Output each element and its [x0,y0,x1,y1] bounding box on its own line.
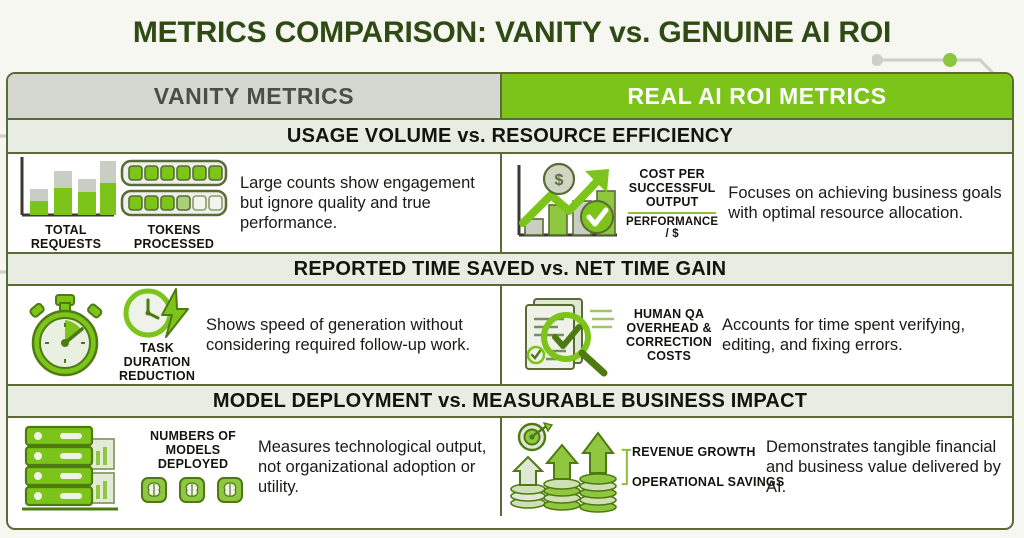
description-vanity-time: Shows speed of generation without consid… [196,315,494,355]
section-band-time-saved: REPORTED TIME SAVED vs. NET TIME GAIN [8,252,1012,286]
metric-label-total-requests: TOTAL REQUESTS [14,223,118,251]
description-vanity-usage: Large counts show engagement but ignore … [230,173,494,233]
server-stack-icon [14,421,138,513]
cell-real-impact: REVENUE GROWTH OPERATIONA [500,418,1012,516]
cell-real-usage: $ COST PER SUCCESSFUL OUTPUT PERFORMANCE… [500,154,1012,252]
infographic-root: METRICS COMPARISON: VANITY vs. GENUINE A… [0,0,1024,538]
description-real-usage: Focuses on achieving business goals with… [718,183,1006,223]
section-band-usage-volume: USAGE VOLUME vs. RESOURCE EFFICIENCY [8,120,1012,154]
stopwatch-icon [14,291,118,379]
metric-label-tokens-processed: TOKENS PROCESSED [118,223,230,251]
bracket-connector-icon [620,437,632,497]
metric-label-human-qa-overhead: HUMAN QA OVERHEAD & CORRECTION COSTS [626,307,712,363]
cell-vanity-usage: TOTAL REQUESTS [8,154,500,252]
svg-text:$: $ [555,172,564,189]
growth-arrow-dollar-check-icon: $ [508,161,626,245]
comparison-table: VANITY METRICS REAL AI ROI METRICS USAGE… [6,72,1014,530]
page-title: METRICS COMPARISON: VANITY vs. GENUINE A… [0,16,1024,50]
description-real-time: Accounts for time spent verifying, editi… [712,315,1006,355]
metric-label-numbers-of-models-deployed: NUMBERS OF MODELS DEPLOYED [138,429,248,471]
document-magnifier-check-icon [508,293,626,377]
metric-divider [628,212,716,214]
metric-sublabel-performance-per-dollar: PERFORMANCE / $ [626,216,718,240]
coin-stacks-arrows-target-icon [508,421,620,513]
cell-vanity-time: TASK DURATION REDUCTION Shows speed of g… [8,286,500,384]
section-row-usage-volume: TOTAL REQUESTS [8,154,1012,252]
cell-vanity-deployment: NUMBERS OF MODELS DEPLOYED [8,418,500,516]
section-row-model-deployment: NUMBERS OF MODELS DEPLOYED [8,418,1012,516]
token-meter-icon [118,155,230,223]
column-header-vanity: VANITY METRICS [8,74,500,118]
description-real-impact: Demonstrates tangible financial and busi… [756,437,1006,497]
brain-chip-icons [138,475,248,505]
section-row-time-saved: TASK DURATION REDUCTION Shows speed of g… [8,286,1012,384]
column-header-real: REAL AI ROI METRICS [500,74,1012,118]
metric-label-revenue-growth: REVENUE GROWTH [632,446,756,460]
bar-chart-icon [14,155,118,223]
section-band-model-deployment: MODEL DEPLOYMENT vs. MEASURABLE BUSINESS… [8,384,1012,418]
metric-label-cost-per-successful-output: COST PER SUCCESSFUL OUTPUT [626,167,718,209]
column-header-row: VANITY METRICS REAL AI ROI METRICS [8,74,1012,120]
metric-label-task-duration-reduction: TASK DURATION REDUCTION [118,341,196,383]
description-vanity-deployment: Measures technological output, not organ… [248,437,494,497]
cell-real-time: HUMAN QA OVERHEAD & CORRECTION COSTS Acc… [500,286,1012,384]
clock-bolt-icon [118,287,196,341]
